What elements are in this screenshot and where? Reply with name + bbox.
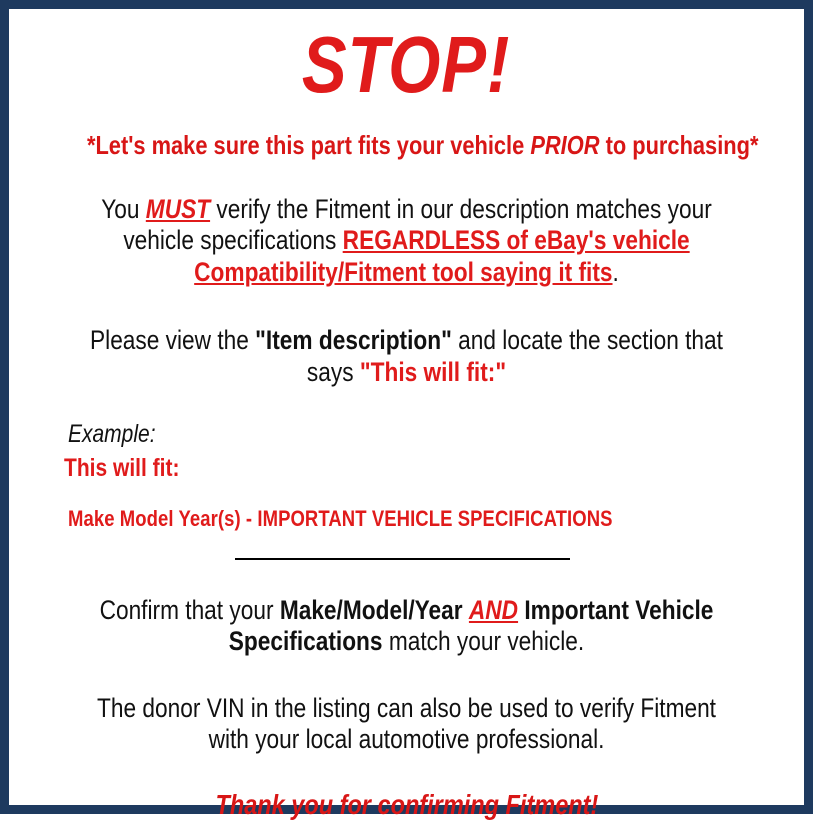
subtitle-inner: *Let's make sure this part fits your veh… [87,131,759,160]
example-spec-line-text: Make Model Year(s) - IMPORTANT VEHICLE S… [68,506,613,532]
example-fit-heading-text: This will fit: [64,453,180,484]
example-spec-line: Make Model Year(s) - IMPORTANT VEHICLE S… [68,484,790,532]
subtitle-line: *Let's make sure this part fits your veh… [23,117,790,160]
example-label-text: Example: [68,421,156,449]
vin-line-1: The donor VIN in the listing can also be… [84,693,728,725]
item-seg1: Please view the [90,325,255,355]
divider-line [235,558,570,560]
page-title-text: STOP! [302,25,510,105]
example-block: Example: This will fit: Make Model Year(… [23,388,790,532]
paragraph-vin: The donor VIN in the listing can also be… [23,658,790,756]
item-description-quote: "Item description" [255,325,452,355]
confirm-seg5: match your vehicle. [383,626,585,656]
subtitle-suffix: to purchasing* [599,130,758,160]
page-title: STOP! [23,9,790,117]
closing-line: Thank you for confirming Fitment! [23,756,790,821]
paragraph-confirm-inner: Confirm that your Make/Model/Year AND Im… [84,595,728,658]
paragraph-must: You MUST verify the Fitment in our descr… [23,160,790,289]
this-will-fit-quote: "This will fit:" [360,357,506,387]
example-fit-heading: This will fit: [64,449,790,484]
vin-line-2: with your local automotive professional. [84,724,728,756]
paragraph-item-description: Please view the "Item description" and l… [23,288,790,388]
example-label: Example: [68,421,790,449]
paragraph-confirm: Confirm that your Make/Model/Year AND Im… [23,562,790,658]
notice-content: STOP! *Let's make sure this part fits yo… [9,9,804,805]
must-keyword: MUST [146,194,210,224]
subtitle-emphasis: PRIOR [530,130,599,160]
divider [23,533,790,562]
and-keyword: AND [469,595,518,625]
closing-line-text: Thank you for confirming Fitment! [215,790,598,821]
fitment-notice-card: STOP! *Let's make sure this part fits yo… [0,0,813,814]
subtitle-prefix: *Let's make sure this part fits your veh… [87,130,530,160]
confirm-seg1: Confirm that your [100,595,280,625]
must-seg1: You [101,194,146,224]
make-model-year-term: Make/Model/Year [280,595,463,625]
paragraph-item-inner: Please view the "Item description" and l… [84,325,728,388]
paragraph-must-inner: You MUST verify the Fitment in our descr… [84,194,728,289]
must-period: . [613,257,619,287]
